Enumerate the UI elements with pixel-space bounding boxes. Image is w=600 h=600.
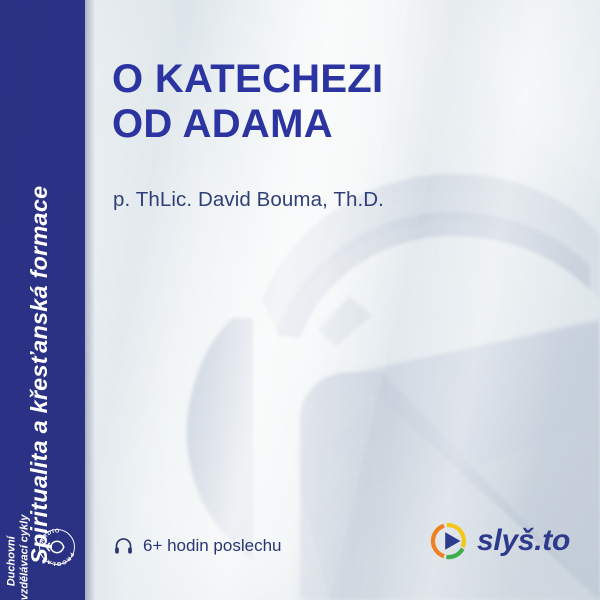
svg-text:PROGLAS: PROGLAS xyxy=(42,551,74,566)
play-circle-icon xyxy=(430,522,468,560)
headphones-icon xyxy=(113,535,134,556)
series-spine-band: Spiritualita a křesťanská formace Duchov… xyxy=(0,0,85,600)
audiobook-cover: Spiritualita a křesťanská formace Duchov… xyxy=(0,0,600,600)
brand-name: slyš.to xyxy=(477,524,570,558)
series-subtitle-line-2: vzdělávací cykly xyxy=(18,514,31,600)
title-line-1: O KATECHEZI xyxy=(112,57,542,102)
series-subtitle: Duchovní vzdělávací cykly xyxy=(5,514,30,600)
brand-logo: slyš.to xyxy=(430,522,570,560)
author-name: p. ThLic. David Bouma, Th.D. xyxy=(113,188,384,212)
duration-info: 6+ hodin poslechu xyxy=(113,535,281,556)
title-line-2: OD ADAMA xyxy=(112,102,542,147)
radio-proglas-fish-logo-icon: RADIO PROGLAS xyxy=(38,528,76,566)
duration-label: 6+ hodin poslechu xyxy=(143,536,281,556)
page-title: O KATECHEZI OD ADAMA xyxy=(112,57,542,147)
series-title: Spiritualita a křesťanská formace xyxy=(26,186,53,564)
series-subtitle-line-1: Duchovní xyxy=(5,514,18,586)
